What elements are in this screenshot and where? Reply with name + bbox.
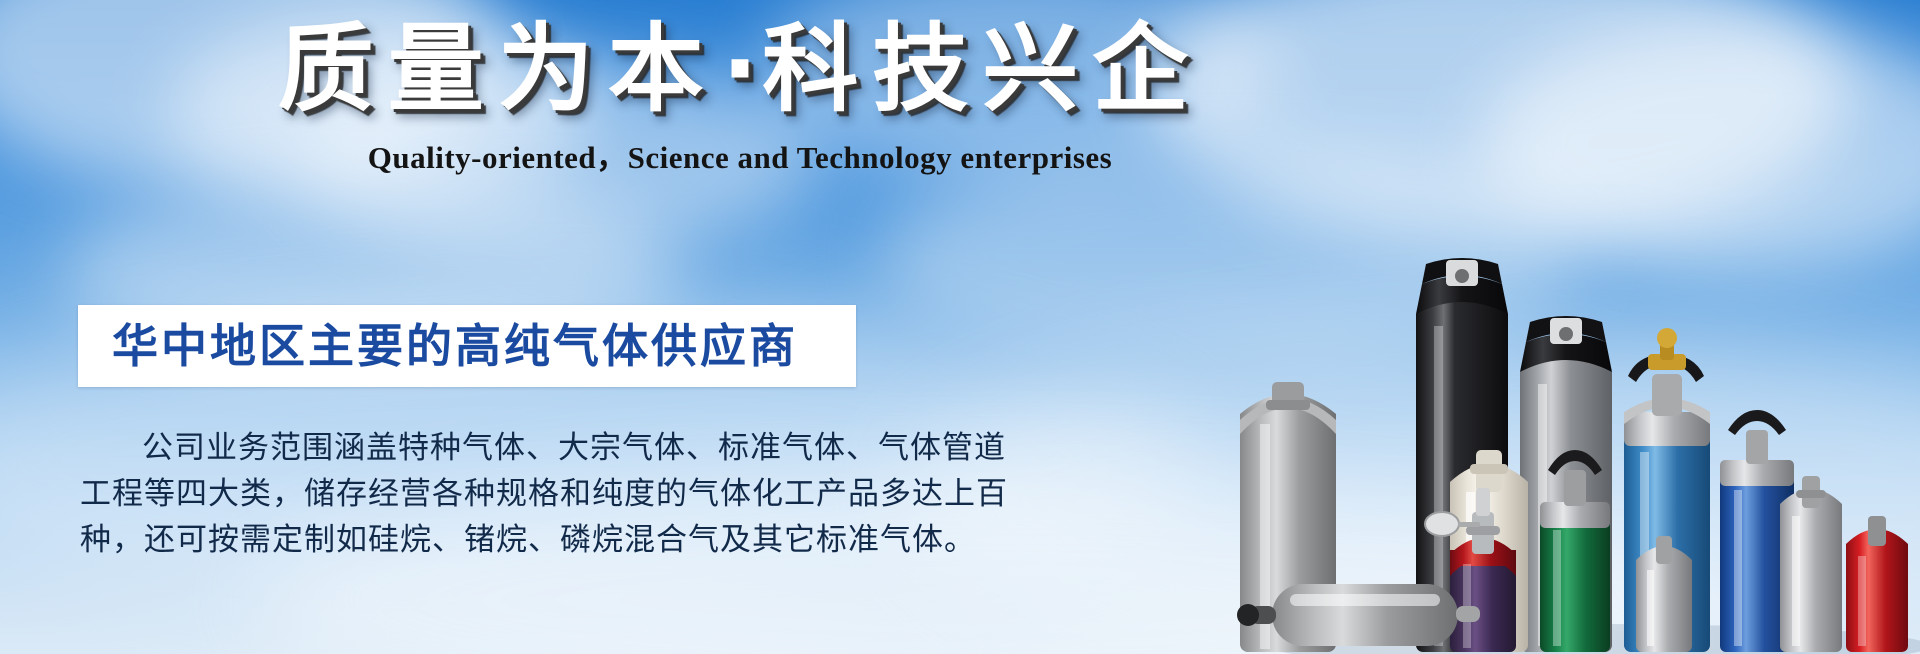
cylinder-aluminium-small xyxy=(1636,536,1692,652)
headline-part-1: 质量为本 xyxy=(278,13,718,125)
subheadline-container: Quality-oriented，Science and Technology … xyxy=(0,140,1480,176)
gas-cylinder-group xyxy=(1220,254,1920,654)
headline-separator-dot: · xyxy=(718,13,762,125)
headline-part-2: 科技兴企 xyxy=(762,13,1202,125)
cloud-decoration xyxy=(1480,20,1920,270)
gas-cylinder-illustration xyxy=(1220,254,1920,654)
subheadline-text: Quality-oriented，Science and Technology … xyxy=(368,140,1113,176)
description-paragraph: 公司业务范围涵盖特种气体、大宗气体、标准气体、气体管道 工程等四大类，储存经营各… xyxy=(80,425,870,563)
headline-container: 质量为本·科技兴企 xyxy=(0,14,1480,124)
paragraph-line-1: 公司业务范围涵盖特种气体、大宗气体、标准气体、气体管道 xyxy=(80,425,870,471)
paragraph-line-3: 种，还可按需定制如硅烷、锗烷、磷烷混合气及其它标准气体。 xyxy=(80,517,870,563)
paragraph-line-2: 工程等四大类，储存经营各种规格和纯度的气体化工产品多达上百 xyxy=(80,471,870,517)
promotional-banner: 质量为本·科技兴企 Quality-oriented，Science and T… xyxy=(0,0,1920,654)
cylinder-red xyxy=(1846,516,1908,652)
headline-main: 质量为本·科技兴企 xyxy=(278,14,1202,124)
highlight-box: 华中地区主要的高纯气体供应商 xyxy=(78,305,856,387)
cylinder-aluminium xyxy=(1780,476,1842,652)
highlight-box-text: 华中地区主要的高纯气体供应商 xyxy=(78,320,798,372)
